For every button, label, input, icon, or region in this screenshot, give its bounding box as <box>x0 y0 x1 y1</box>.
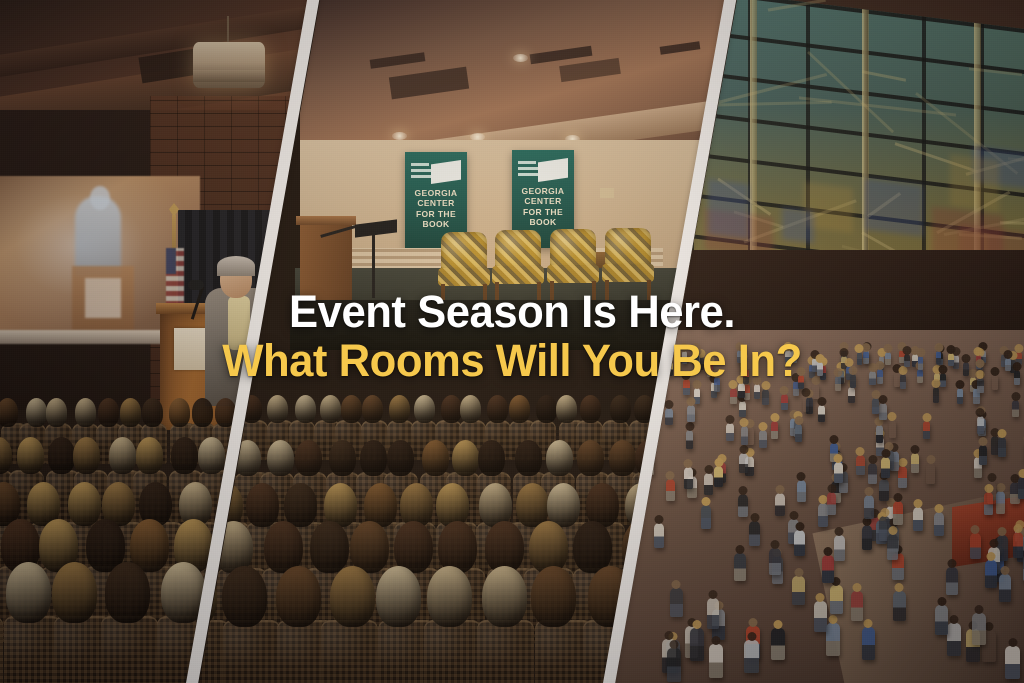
crowd-person <box>785 350 791 363</box>
crowd-person <box>987 481 996 503</box>
crowd-person <box>946 567 958 595</box>
crowd-person <box>889 420 897 438</box>
audience-member <box>120 398 141 426</box>
crowd-person <box>734 553 746 580</box>
crowd-person <box>996 491 1006 514</box>
crowd-person <box>977 416 984 434</box>
stage-podium-top <box>296 216 356 225</box>
facade-reflection <box>782 207 814 243</box>
crowd-person <box>690 628 704 661</box>
audience-member <box>0 398 18 426</box>
crowd-person <box>893 501 903 525</box>
facade-reflection <box>708 179 749 239</box>
crowd-person <box>885 352 891 365</box>
book-logo-icon <box>411 159 461 185</box>
audience-member <box>192 398 213 426</box>
speaker-hair <box>217 256 255 276</box>
crowd-person <box>739 453 748 473</box>
crowd-person <box>864 495 874 518</box>
crowd-person <box>687 405 694 422</box>
crowd-person <box>714 466 723 487</box>
crowd-person <box>827 492 837 515</box>
crowd-person <box>726 423 734 441</box>
audience-member <box>531 566 576 627</box>
crowd-person <box>1014 370 1020 385</box>
event-season-banner: GEORGIA CENTER FOR THE BOOK GEORGIA CENT… <box>0 0 1024 683</box>
american-flag-icon <box>166 248 184 306</box>
audience-member <box>515 440 542 476</box>
crowd-person <box>834 462 843 483</box>
pendant-light-band <box>193 70 265 82</box>
crowd-person <box>794 530 805 556</box>
crowd-person <box>834 535 845 561</box>
crowd-person <box>686 430 694 449</box>
facade-reflection <box>865 178 922 236</box>
crowd-person <box>737 350 743 363</box>
crowd-person <box>851 591 864 621</box>
audience-member <box>546 440 573 476</box>
crowd-person <box>830 585 842 615</box>
banner-text: GEORGIA CENTER FOR THE BOOK <box>405 188 467 229</box>
crowd-person <box>683 379 689 394</box>
audience-member <box>509 395 530 423</box>
audience-member <box>478 440 505 476</box>
crowd-person <box>1012 400 1019 417</box>
crowd-person <box>781 394 788 410</box>
crowd-person <box>948 353 954 366</box>
crowd-person <box>862 525 873 550</box>
audience-member <box>109 437 136 473</box>
audience-member <box>295 395 316 423</box>
audience-member <box>360 440 387 476</box>
crowd-person <box>904 354 910 367</box>
audience-member <box>48 437 75 473</box>
crowd-person <box>822 555 834 582</box>
crowd-person <box>872 398 879 414</box>
audience-member <box>6 562 51 623</box>
banquet-chair <box>0 616 3 683</box>
banquet-chair <box>4 616 61 683</box>
banquet-chair <box>477 620 534 683</box>
audience-member <box>68 482 101 527</box>
crowd-person <box>1005 358 1011 372</box>
crowd-person <box>826 623 840 655</box>
audience-member <box>142 398 163 426</box>
wall-plate <box>600 188 614 198</box>
audience-member <box>577 440 604 476</box>
audience-member <box>276 566 321 627</box>
crowd-person <box>848 387 855 403</box>
steel-truss <box>807 51 894 133</box>
crowd-person <box>850 374 856 389</box>
crowd-person <box>814 601 827 632</box>
audience-member <box>610 395 631 423</box>
music-stand-pole <box>372 228 375 298</box>
crowd-person <box>709 644 723 678</box>
audience-member <box>17 437 44 473</box>
audience-member <box>441 395 462 423</box>
crowd-person <box>667 648 681 682</box>
projected-speaker-head <box>90 186 110 210</box>
crowd-person <box>1018 477 1024 499</box>
audience-member <box>547 483 580 528</box>
facade-reflection <box>950 154 999 212</box>
audience-member <box>198 437 225 473</box>
crowd-person <box>862 627 876 659</box>
audience-member <box>284 483 317 528</box>
crowd-person <box>893 591 906 621</box>
crowd-person <box>730 388 737 404</box>
crowd-person <box>934 512 944 536</box>
crowd-person <box>936 351 942 364</box>
audience-member <box>320 395 341 423</box>
audience-member <box>171 437 198 473</box>
crowd-person <box>741 426 749 444</box>
audience-member <box>460 395 481 423</box>
audience-member <box>46 398 67 426</box>
crowd-person <box>795 424 803 442</box>
crowd-person <box>714 377 720 392</box>
crowd-person <box>798 375 804 390</box>
crowd-person <box>881 457 890 478</box>
stage-armchair <box>601 228 655 300</box>
projected-podium <box>72 266 134 330</box>
audience-member <box>105 562 150 623</box>
audience-member <box>169 398 190 426</box>
crowd-person <box>701 505 711 529</box>
crowd-person <box>879 403 886 420</box>
crowd-person <box>877 369 883 383</box>
crowd-person <box>693 351 699 364</box>
stage-armchair <box>437 232 491 304</box>
audience-member <box>436 483 469 528</box>
crowd-person <box>803 396 810 412</box>
crowd-person <box>762 389 769 405</box>
microphone-icon <box>188 280 204 290</box>
crowd-person <box>743 369 749 383</box>
banner-text: GEORGIA CENTER FOR THE BOOK <box>512 186 574 227</box>
audience-member <box>267 440 294 476</box>
crowd-person <box>869 371 875 386</box>
crowd-person <box>926 463 935 484</box>
crowd-person <box>666 479 675 501</box>
book-logo-icon <box>518 157 568 183</box>
crowd-person <box>792 576 804 605</box>
crowd-person <box>985 560 997 588</box>
audience-member <box>536 395 557 423</box>
crowd-person <box>868 463 877 484</box>
crowd-person <box>992 375 998 390</box>
audience-member <box>387 440 414 476</box>
audience-member <box>516 483 549 528</box>
crowd-person <box>744 640 758 673</box>
crowd-person <box>898 466 907 487</box>
audience-member <box>362 395 383 423</box>
crowd-person <box>977 367 983 381</box>
downlight-icon <box>392 132 407 140</box>
crowd-person <box>970 533 981 559</box>
crowd-person <box>957 388 964 404</box>
banquet-chair <box>424 620 481 683</box>
audience-member <box>52 562 97 623</box>
audience-member <box>414 395 435 423</box>
audience-member <box>73 437 100 473</box>
audience-member <box>609 440 636 476</box>
audience-member <box>341 395 362 423</box>
banquet-chair <box>101 616 158 683</box>
crowd-person <box>979 445 987 465</box>
crowd-person <box>998 437 1006 456</box>
crowd-person <box>1013 532 1024 558</box>
crowd-person <box>923 421 931 439</box>
crowd-person <box>704 473 713 495</box>
crowd-person <box>775 493 785 516</box>
banquet-chair <box>321 620 378 683</box>
crowd-person <box>707 598 720 628</box>
audience-member <box>452 440 479 476</box>
crowd-person <box>856 455 865 475</box>
audience-member <box>376 566 421 627</box>
crowd-person <box>738 383 745 398</box>
stage-armchair <box>546 229 600 301</box>
crowd-person <box>887 534 898 560</box>
crowd-person <box>863 351 869 364</box>
audience-member <box>75 398 96 426</box>
crowd-person <box>771 421 779 439</box>
crowd-person <box>769 548 780 575</box>
crowd-person <box>876 425 884 443</box>
audience-member <box>330 566 375 627</box>
crowd-person <box>917 369 923 383</box>
crowd-person <box>963 362 969 376</box>
audience-member <box>295 440 322 476</box>
crowd-person <box>665 408 672 425</box>
crowd-person <box>947 623 961 655</box>
crowd-person <box>797 480 806 502</box>
crowd-person <box>818 405 825 422</box>
crowd-person <box>972 613 985 645</box>
crowd-person <box>1005 646 1019 680</box>
crowd-person <box>933 387 940 403</box>
crowd-person <box>935 605 948 636</box>
crowd-person <box>682 351 688 364</box>
crowd-person <box>879 479 888 501</box>
audience-member <box>310 521 349 574</box>
audience-member <box>136 437 163 473</box>
crowd-person <box>739 401 746 418</box>
crowd-person <box>900 374 906 389</box>
audience-member <box>98 398 119 426</box>
audience-member <box>267 395 288 423</box>
audience-member <box>222 566 267 627</box>
facade-mullion-vertical <box>806 2 810 287</box>
crowd-person <box>857 352 863 365</box>
crowd-person <box>759 430 767 449</box>
crowd-person <box>913 507 923 531</box>
stage-armchair <box>491 230 545 302</box>
audience-member <box>26 398 47 426</box>
crowd-person <box>684 467 693 488</box>
crowd-person <box>999 574 1011 603</box>
audience-member <box>246 483 279 528</box>
crowd-person <box>940 373 946 388</box>
crowd-person <box>817 362 823 376</box>
crowd-person <box>911 453 920 473</box>
crowd-person <box>738 494 748 517</box>
audience-member <box>487 395 508 423</box>
audience-member <box>389 395 410 423</box>
crowd-person <box>670 588 683 618</box>
audience-member <box>482 566 527 627</box>
crowd-person <box>754 384 761 399</box>
crowd-person <box>918 356 924 370</box>
downlight-icon <box>513 54 528 62</box>
audience-member <box>556 395 577 423</box>
audience-member <box>422 440 449 476</box>
crowd-person <box>835 376 841 391</box>
crowd-person <box>654 523 665 548</box>
audience-member <box>438 521 477 574</box>
audience-member <box>427 566 472 627</box>
crowd-person <box>749 521 760 546</box>
crowd-person <box>791 350 797 363</box>
audience-member <box>580 395 601 423</box>
audience-member <box>329 440 356 476</box>
crowd-person <box>771 628 785 661</box>
banquet-chair <box>223 620 280 683</box>
